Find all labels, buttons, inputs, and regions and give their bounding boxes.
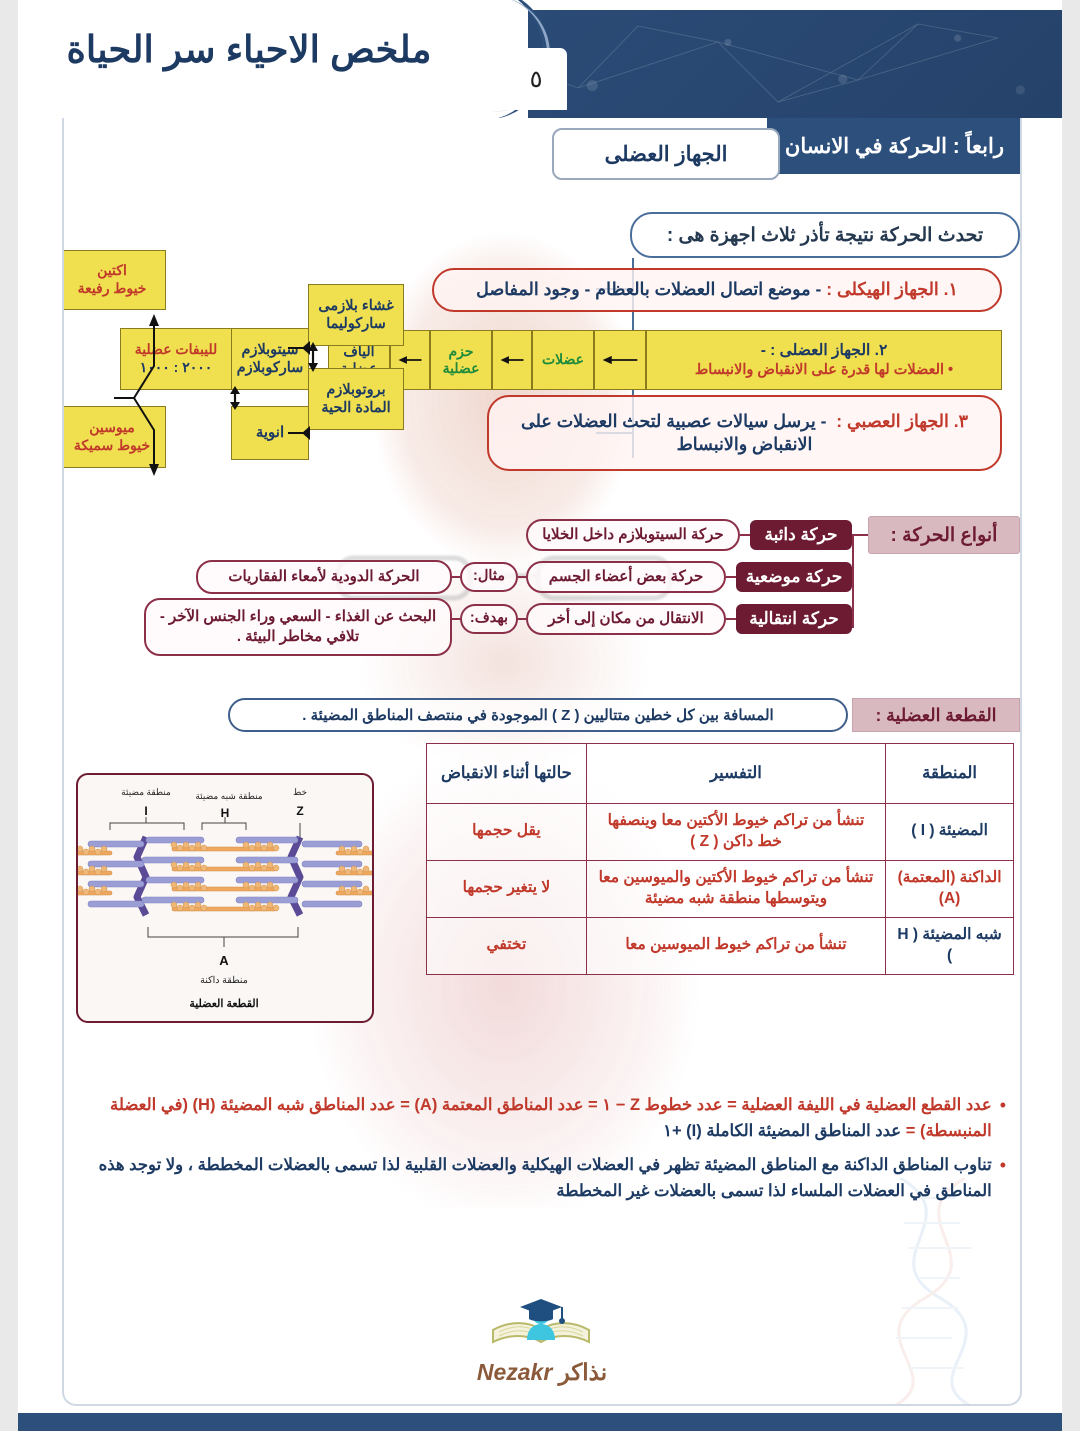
types-stem (852, 534, 868, 536)
right-margin-rail (1062, 0, 1080, 1431)
brand-ar: نذاكر (559, 1359, 608, 1385)
left-arrow-icon (601, 352, 639, 368)
figure-label-z-top: خط (293, 787, 307, 797)
link-1 (740, 534, 750, 536)
protoplasm-title: بروتوبلازم (326, 381, 385, 399)
link-2 (726, 576, 736, 578)
muscular-text: • العضلات لها قدرة على الانقباض والانبسا… (695, 361, 953, 379)
protoplasm-sub: المادة الحية (321, 399, 390, 417)
bullet-icon: • (1000, 1093, 1006, 1144)
footer-bar (18, 1413, 1062, 1431)
nervous-label: ٣. الجهاز العصبي : (836, 411, 968, 431)
note2-part1: تناوب المناطق الداكنة مع المناطق المضيئة… (78, 1153, 992, 1204)
graduation-book-icon (487, 1288, 597, 1354)
movement-detail-2: الحركة الدودية لأمعاء الفقاريات (196, 560, 452, 594)
zones-table: المنطقة التفسير حالتها أثناء الانقباض ال… (426, 743, 1014, 975)
row1-explanation: تنشأ من تراكم خيوط الأكتين معا وينصفها خ… (586, 804, 885, 861)
cell-box-protoplasm: بروتوبلازم المادة الحية (308, 368, 404, 430)
col-explanation: التفسير (586, 744, 885, 804)
cytoplasm-sub: ساركوبلازم (237, 359, 304, 377)
figure-label-i: I (144, 804, 147, 818)
myosin-title: ميوسين (89, 419, 135, 437)
skeletal-text: - موضع اتصال العضلات بالعظام - وجود المف… (476, 278, 821, 301)
figure-label-z: Z (296, 804, 303, 818)
membrane-title: غشاء بلازمى (318, 297, 393, 315)
actin-title: اكتين (97, 262, 127, 280)
note-item: • تناوب المناطق الداكنة مع المناطق المضي… (78, 1153, 1006, 1204)
figure-label-a-sub: منطقة داكنة (200, 975, 248, 986)
sarcomere-definition: المسافة بين كل خطين متتاليين ( Z ) الموج… (228, 698, 848, 732)
system-box-nervous: ٣. الجهاز العصبي : - يرسل سيالات عصبية ل… (487, 395, 1002, 471)
link-3 (726, 618, 736, 620)
link-2c (452, 576, 460, 578)
col-state: حالتها أثناء الانقباض (427, 744, 587, 804)
system-box-muscular: ٢. الجهاز العضلى : - • العضلات لها قدرة … (646, 330, 1002, 390)
myosin-sub: خيوط سميكة (74, 437, 150, 455)
chain-muscles: عضلات (532, 330, 594, 390)
cell-box-nuclei: انوية (231, 406, 309, 460)
left-arrow-icon (499, 352, 525, 368)
chain-bundles: حزم عضلية (430, 330, 492, 390)
movement-type-1: حركة دائبة (750, 520, 852, 550)
actin-sub: خيوط رفيعة (78, 280, 147, 298)
movement-desc-2: حركة بعض أعضاء الجسم (526, 561, 726, 593)
membrane-sub: ساركوليما (326, 315, 386, 333)
types-spine (852, 534, 854, 628)
left-margin-rail (0, 0, 18, 1431)
nervous-text: - يرسل سيالات عصبية لتحث العضلات على الا… (521, 411, 826, 454)
brand-wordmark: نذاكر Nezakr (447, 1359, 637, 1386)
sarcomere-header: القطعة العضلية : (852, 698, 1020, 732)
link-2b (518, 576, 526, 578)
note-item: • عدد القطع العضلية في الليفة العضلية = … (78, 1093, 1006, 1144)
row3-state: تختفي (427, 917, 587, 974)
system-box-skeletal: ١. الجهاز الهيكلى : - موضع اتصال العضلات… (432, 268, 1002, 312)
myofibrils-ratio: ٢٠٠٠ : ١٠٠٠ (140, 359, 213, 377)
col-zone: المنطقة (886, 744, 1014, 804)
movement-detail-3: البحث عن الغذاء - السعي وراء الجنس الآخر… (144, 598, 452, 656)
link-3b (518, 618, 526, 620)
sarcomere-diagram: منطقة مضيئة منطقة شبه مضيئة خط I H Z (76, 775, 372, 1023)
brand-en: Nezakr (477, 1359, 552, 1385)
table-row: الداكنة (المعتمة) (A) تنشأ من تراكم خيوط… (427, 860, 1014, 917)
brand-logo: نذاكر Nezakr (447, 1288, 637, 1386)
table-row: شبه المضيئة ( H ) تنشأ من تراكم خيوط الم… (427, 917, 1014, 974)
figure-label-a: A (219, 953, 229, 968)
muscular-system-chain: ٢. الجهاز العضلى : - • العضلات لها قدرة … (328, 330, 1002, 390)
cell-box-actin: اكتين خيوط رفيعة (62, 250, 166, 310)
cell-box-membrane: غشاء بلازمى ساركوليما (308, 284, 404, 346)
row2-zone: الداكنة (المعتمة) (A) (886, 860, 1014, 917)
row1-zone: المضيئة ( I ) (886, 804, 1014, 861)
figure-label-i-top: منطقة مضيئة (121, 787, 171, 797)
double-arrow-membrane (300, 342, 326, 372)
cell-box-myosin: ميوسين خيوط سميكة (62, 406, 166, 468)
movement-desc-3: الانتقال من مكان إلى أخر (526, 603, 726, 635)
double-arrow-nuclei (222, 386, 248, 410)
content-sheet: رابعاً : الحركة في الانسان الجهاز العضلى… (62, 118, 1022, 1406)
table-header-row: المنطقة التفسير حالتها أثناء الانقباض (427, 744, 1014, 804)
table-row: المضيئة ( I ) تنشأ من تراكم خيوط الأكتين… (427, 804, 1014, 861)
cell-box-cytoplasm: سيتوبلازم ساركوبلازم (231, 328, 309, 390)
figure-caption: القطعة العضلية (189, 998, 258, 1010)
page-title: ملخص الاحياء سر الحياة (24, 28, 474, 71)
row1-state: يقل حجمها (427, 804, 587, 861)
movement-types-header: أنواع الحركة : (868, 516, 1020, 554)
movement-desc-1: حركة السيتوبلازم داخل الخلايا (526, 519, 740, 551)
myofibrils-title: لليبفات عضلية (135, 341, 218, 359)
row2-explanation: تنشأ من تراكم خيوط الأكتين والميوسين معا… (586, 860, 885, 917)
row2-state: لا يتغير حجمها (427, 860, 587, 917)
bullet-icon: • (1000, 1153, 1006, 1204)
left-arrow-icon (397, 352, 423, 368)
movement-type-2: حركة موضعية (736, 562, 852, 592)
skeletal-label: ١. الجهاز الهيكلى : (826, 278, 958, 301)
nuclei-title: انوية (256, 424, 284, 443)
subsection-tab: الجهاز العضلى (552, 128, 780, 180)
cytoplasm-title: سيتوبلازم (241, 341, 298, 359)
notes-list: • عدد القطع العضلية في الليفة العضلية = … (78, 1093, 1006, 1213)
sarcomere-figure: منطقة مضيئة منطقة شبه مضيئة خط I H Z (76, 773, 374, 1023)
section-tab: رابعاً : الحركة في الانسان (767, 118, 1022, 174)
row3-explanation: تنشأ من تراكم خيوط الميوسين معا (586, 917, 885, 974)
movement-conn-3: بهدف: (460, 604, 518, 634)
link-3c (452, 618, 460, 620)
chain-arrow-2 (492, 330, 532, 390)
study-sheet-page: ملخص الاحياء سر الحياة ٥ (0, 0, 1080, 1431)
intro-box: تحدث الحركة نتيجة تأذر ثلاث اجهزة هى : (630, 212, 1020, 258)
movement-type-3: حركة انتقالية (736, 604, 852, 634)
page-number-tab: ٥ (505, 48, 567, 110)
row3-zone: شبه المضيئة ( H ) (886, 917, 1014, 974)
figure-label-h-top: منطقة شبه مضيئة (195, 791, 262, 801)
chain-arrow-1 (594, 330, 646, 390)
note1-part2: عدد المناطق المضيئة الكاملة (I) +١ (663, 1122, 901, 1140)
cell-box-myofibrils: لليبفات عضلية ٢٠٠٠ : ١٠٠٠ (120, 328, 232, 390)
muscular-label: ٢. الجهاز العضلى : - (761, 341, 888, 360)
movement-conn-2: مثال: (460, 562, 518, 592)
